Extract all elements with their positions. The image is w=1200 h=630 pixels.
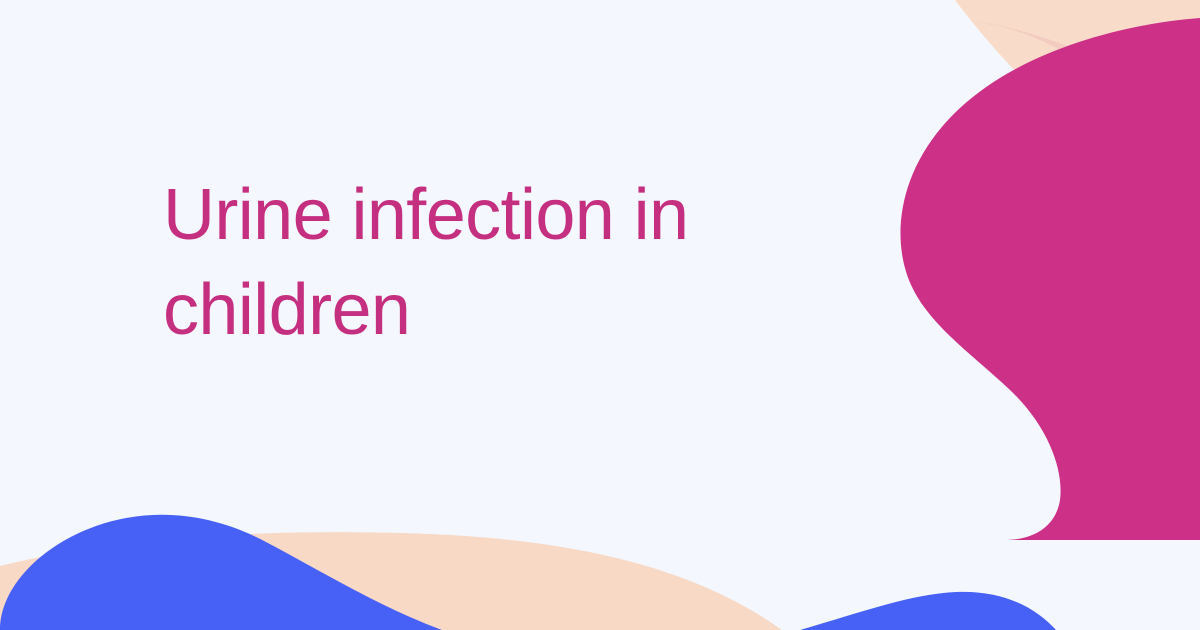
social-card-canvas: Urine infection in children bbox=[0, 0, 1200, 630]
page-title: Urine infection in children bbox=[163, 168, 783, 358]
content-layer: Urine infection in children bbox=[0, 0, 1200, 630]
